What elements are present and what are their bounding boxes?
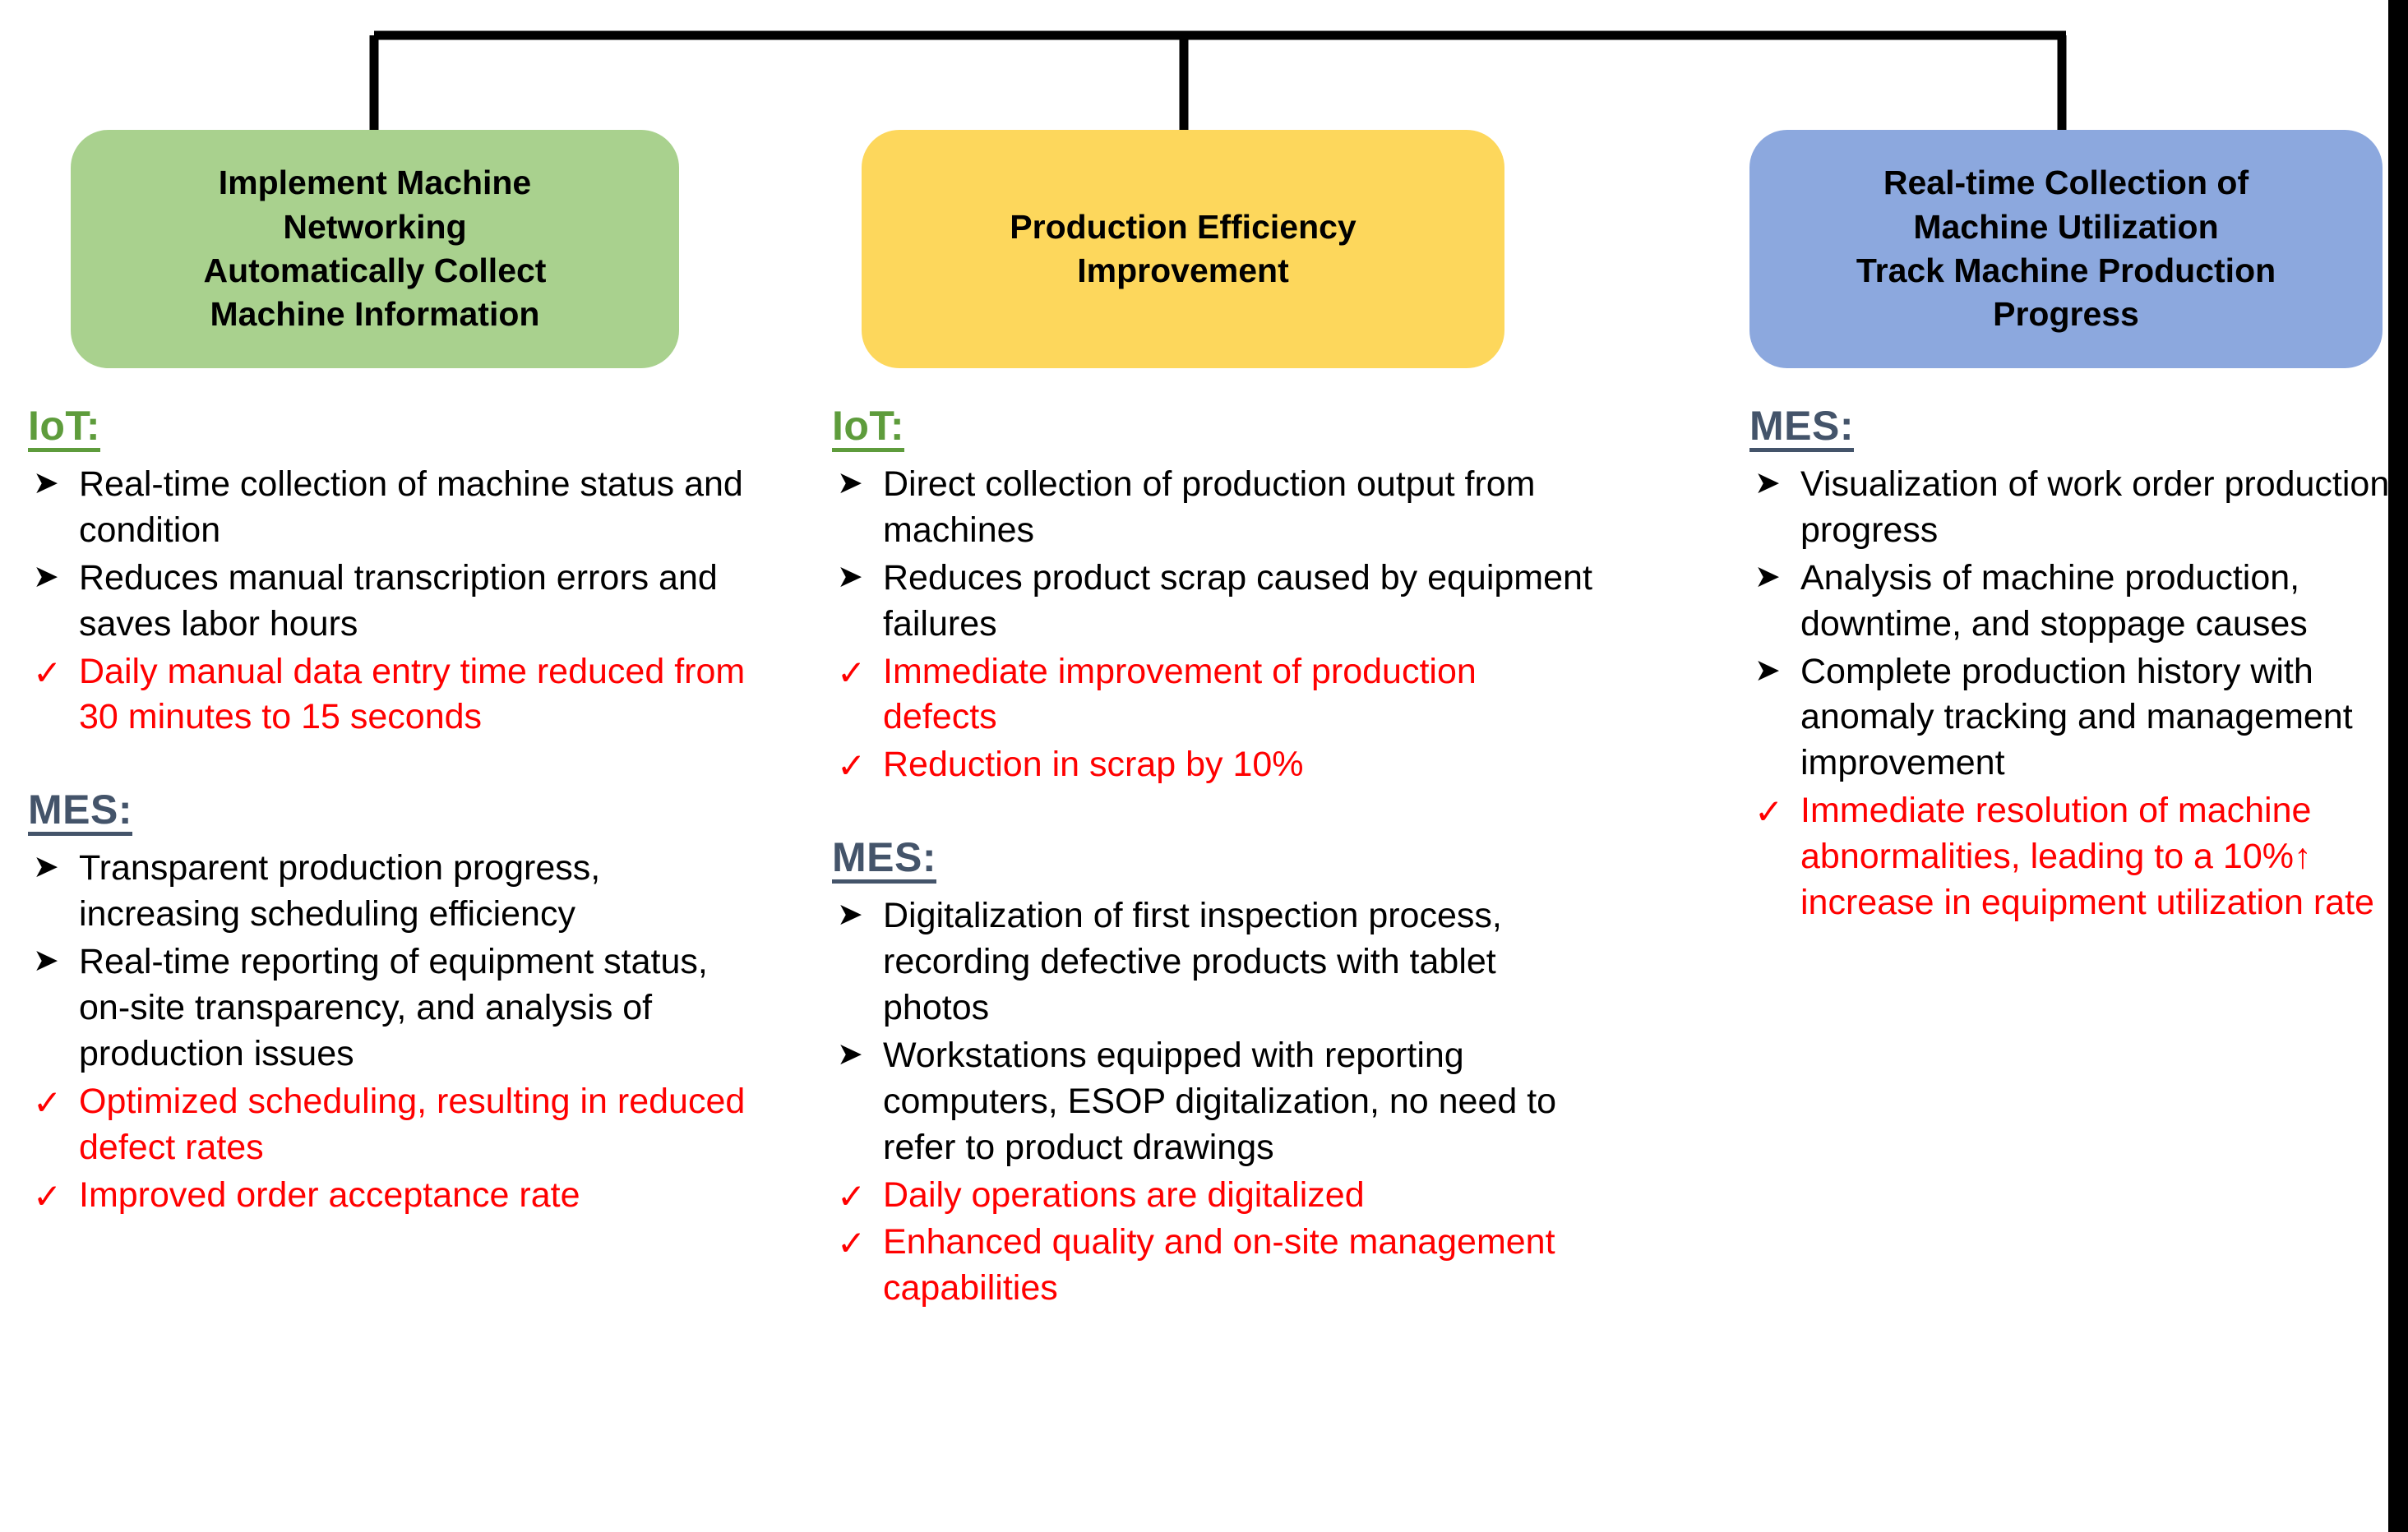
header-box-machine-utilization[interactable]: Real-time Collection of Machine Utilizat…	[1749, 130, 2383, 368]
list-item-text: Daily manual data entry time reduced fro…	[79, 652, 745, 737]
list-item-text: Improved order acceptance rate	[79, 1175, 580, 1215]
list-item: ➤ Complete production history with anoma…	[1749, 649, 2391, 787]
check-bullet-icon: ✓	[837, 1173, 873, 1221]
header-boxes-row: Implement Machine Networking Automatical…	[0, 130, 2388, 370]
list-item-highlight: ✓ Immediate improvement of production de…	[832, 649, 1597, 741]
check-bullet-icon: ✓	[837, 1220, 873, 1267]
arrow-bullet-icon: ➤	[837, 462, 873, 505]
section-header-iot: IoT:	[832, 404, 904, 452]
list-item-text: Digitalization of first inspection proce…	[883, 896, 1502, 1027]
section-header-mes: MES:	[1749, 404, 1854, 452]
check-bullet-icon: ✓	[33, 1079, 69, 1127]
section-iot: IoT: ➤ Real-time collection of machine s…	[28, 404, 751, 741]
list-item-text: Reduces manual transcription errors and …	[79, 558, 718, 644]
column-production-efficiency: IoT: ➤ Direct collection of production o…	[832, 404, 1597, 1313]
list-item-highlight: ✓ Enhanced quality and on-site managemen…	[832, 1220, 1597, 1312]
list-item: ➤ Real-time reporting of equipment statu…	[28, 939, 751, 1077]
section-mes: MES: ➤ Visualization of work order produ…	[1749, 404, 2391, 926]
list-item-text: Complete production history with anomaly…	[1800, 652, 2353, 783]
list-item-highlight: ✓ Immediate resolution of machine abnorm…	[1749, 788, 2391, 926]
check-bullet-icon: ✓	[837, 742, 873, 790]
list-item-text: Visualization of work order production p…	[1800, 464, 2389, 550]
column-machine-networking: IoT: ➤ Real-time collection of machine s…	[28, 404, 751, 1220]
list-item-text: Analysis of machine production, downtime…	[1800, 558, 2308, 644]
list-item-text: Immediate resolution of machine abnormal…	[1800, 791, 2374, 922]
connector-tree	[0, 0, 2408, 148]
list-item: ➤ Analysis of machine production, downti…	[1749, 556, 2391, 648]
list-item-text: Reduction in scrap by 10%	[883, 745, 1304, 784]
list-item-text: Enhanced quality and on-site management …	[883, 1222, 1555, 1308]
list-item-text: Workstations equipped with reporting com…	[883, 1036, 1556, 1167]
bullet-list-mes: ➤ Transparent production progress, incre…	[28, 846, 751, 1218]
arrow-bullet-icon: ➤	[837, 1033, 873, 1076]
bullet-list-mes: ➤ Visualization of work order production…	[1749, 462, 2391, 926]
arrow-bullet-icon: ➤	[837, 893, 873, 936]
list-item-highlight: ✓ Optimized scheduling, resulting in red…	[28, 1079, 751, 1171]
list-item: ➤ Direct collection of production output…	[832, 462, 1597, 554]
header-box-machine-networking[interactable]: Implement Machine Networking Automatical…	[71, 130, 679, 368]
list-item-text: Transparent production progress, increas…	[79, 848, 600, 934]
bullet-list-iot: ➤ Real-time collection of machine status…	[28, 462, 751, 741]
column-machine-utilization: MES: ➤ Visualization of work order produ…	[1749, 404, 2391, 928]
list-item: ➤ Transparent production progress, incre…	[28, 846, 751, 938]
list-item-text: Immediate improvement of production defe…	[883, 652, 1477, 737]
arrow-bullet-icon: ➤	[33, 462, 69, 505]
right-edge-bar	[2388, 0, 2408, 1532]
arrow-bullet-icon: ➤	[1754, 556, 1791, 598]
list-item-text: Real-time reporting of equipment status,…	[79, 942, 708, 1073]
list-item-text: Optimized scheduling, resulting in reduc…	[79, 1082, 745, 1167]
list-item: ➤ Digitalization of first inspection pro…	[832, 893, 1597, 1031]
content-columns: IoT: ➤ Real-time collection of machine s…	[0, 404, 2388, 1532]
bullet-list-iot: ➤ Direct collection of production output…	[832, 462, 1597, 788]
list-item: ➤ Real-time collection of machine status…	[28, 462, 751, 554]
arrow-bullet-icon: ➤	[1754, 462, 1791, 505]
section-iot: IoT: ➤ Direct collection of production o…	[832, 404, 1597, 788]
arrow-bullet-icon: ➤	[33, 939, 69, 982]
list-item-text: Real-time collection of machine status a…	[79, 464, 743, 550]
list-item-text: Direct collection of production output f…	[883, 464, 1536, 550]
list-item-text: Daily operations are digitalized	[883, 1175, 1365, 1215]
list-item-highlight: ✓ Daily manual data entry time reduced f…	[28, 649, 751, 741]
section-header-iot: IoT:	[28, 404, 100, 452]
section-mes: MES: ➤ Transparent production progress, …	[28, 788, 751, 1218]
check-bullet-icon: ✓	[33, 649, 69, 697]
list-item-text: Reduces product scrap caused by equipmen…	[883, 558, 1592, 644]
section-header-mes: MES:	[832, 836, 936, 884]
arrow-bullet-icon: ➤	[1754, 649, 1791, 692]
check-bullet-icon: ✓	[1754, 788, 1791, 836]
list-item: ➤ Reduces product scrap caused by equipm…	[832, 556, 1597, 648]
section-header-mes: MES:	[28, 788, 132, 836]
arrow-bullet-icon: ➤	[33, 556, 69, 598]
arrow-bullet-icon: ➤	[33, 846, 69, 888]
list-item: ➤ Visualization of work order production…	[1749, 462, 2391, 554]
list-item-highlight: ✓ Daily operations are digitalized	[832, 1173, 1597, 1219]
list-item-highlight: ✓ Improved order acceptance rate	[28, 1173, 751, 1219]
list-item: ➤ Reduces manual transcription errors an…	[28, 556, 751, 648]
check-bullet-icon: ✓	[837, 649, 873, 697]
arrow-bullet-icon: ➤	[837, 556, 873, 598]
check-bullet-icon: ✓	[33, 1173, 69, 1221]
list-item-highlight: ✓ Reduction in scrap by 10%	[832, 742, 1597, 788]
section-mes: MES: ➤ Digitalization of first inspectio…	[832, 836, 1597, 1312]
bullet-list-mes: ➤ Digitalization of first inspection pro…	[832, 893, 1597, 1312]
header-box-production-efficiency[interactable]: Production Efficiency Improvement	[862, 130, 1504, 368]
list-item: ➤ Workstations equipped with reporting c…	[832, 1033, 1597, 1171]
